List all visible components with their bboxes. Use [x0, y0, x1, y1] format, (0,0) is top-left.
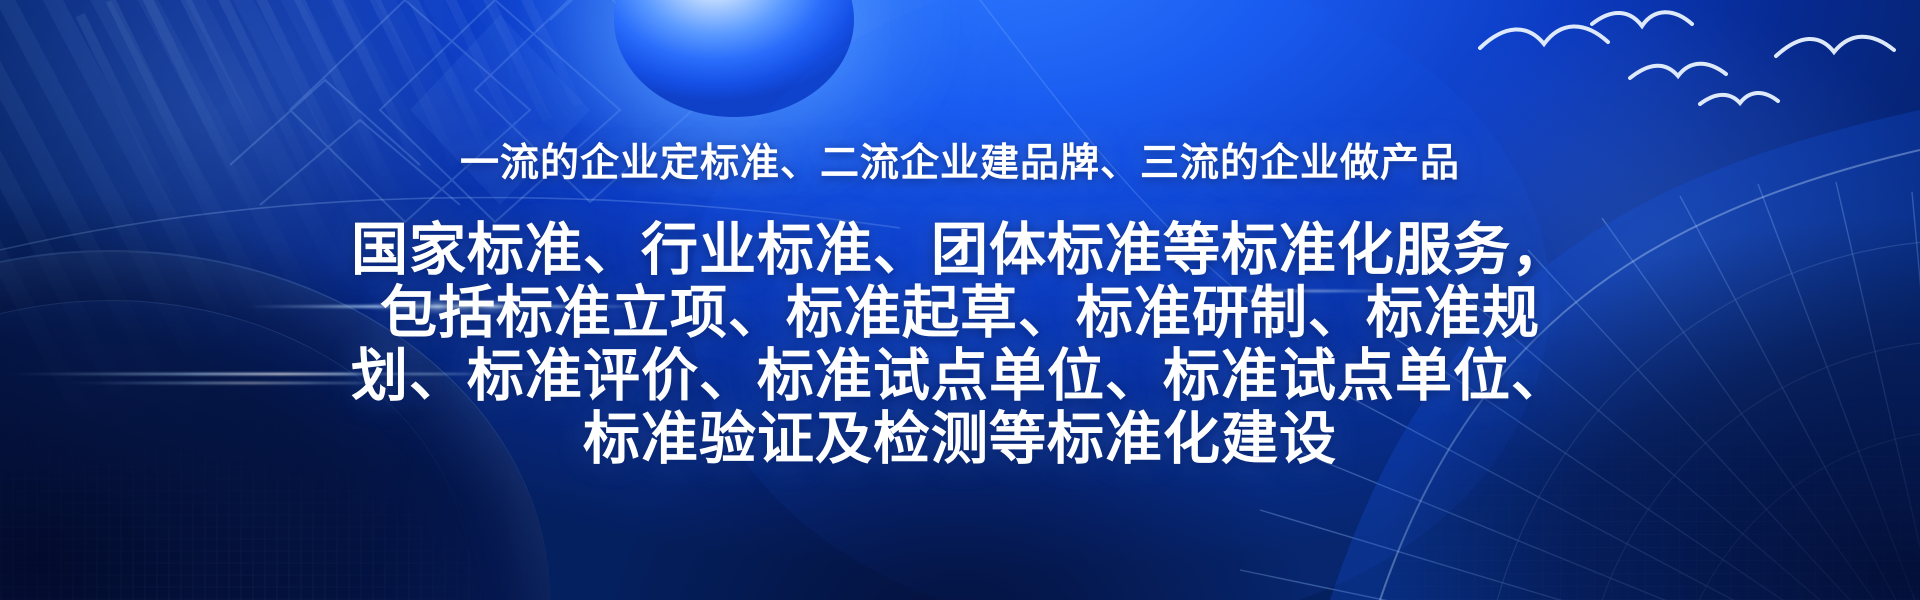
banner-tagline: 一流的企业定标准、二流企业建品牌、三流的企业做产品: [460, 144, 1460, 183]
hero-banner: 一流的企业定标准、二流企业建品牌、三流的企业做产品 国家标准、行业标准、团体标准…: [0, 0, 1920, 600]
banner-headline: 国家标准、行业标准、团体标准等标准化服务，包括标准立项、标准起草、标准研制、标准…: [328, 219, 1593, 471]
banner-content: 一流的企业定标准、二流企业建品牌、三流的企业做产品 国家标准、行业标准、团体标准…: [0, 0, 1920, 600]
